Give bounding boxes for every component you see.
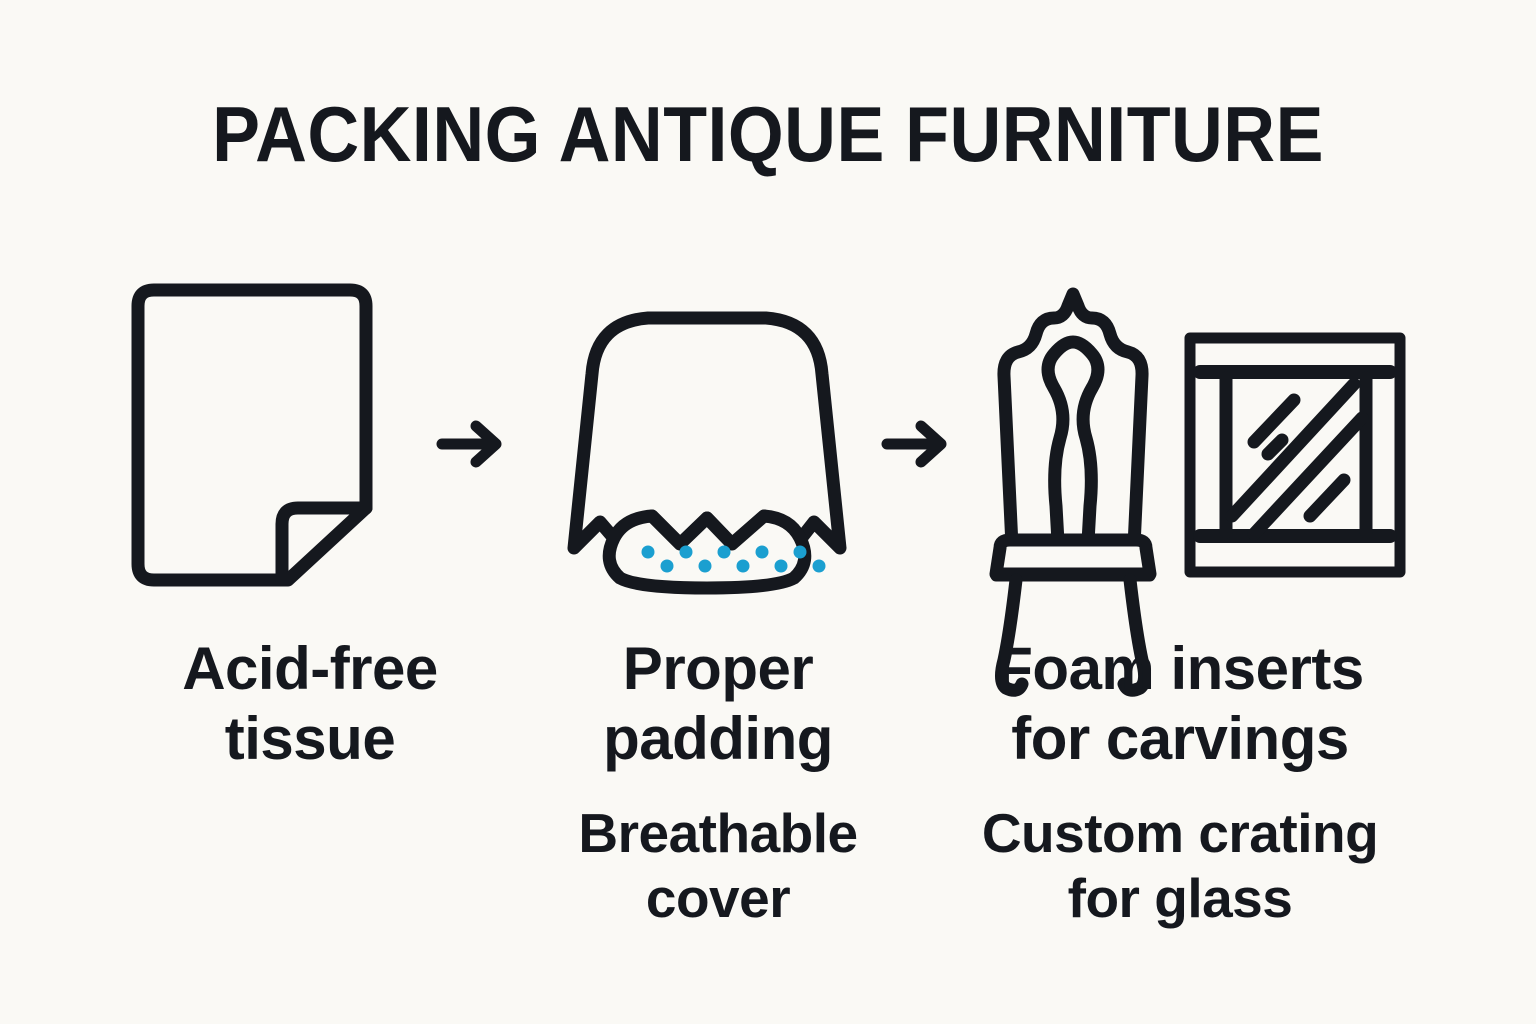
step-3-secondary-label: Custom crating for glass: [900, 801, 1460, 930]
step-3-primary-line-2: for carvings: [900, 704, 1460, 774]
tissue-sheet-icon: [122, 280, 382, 590]
step-2-secondary-line-1: Breathable: [468, 801, 968, 865]
icon-row: [0, 252, 1536, 604]
arrow-right-icon: [881, 417, 953, 471]
step-2-labels: Proper padding Breathable cover: [468, 634, 968, 930]
step-2-secondary-label: Breathable cover: [468, 801, 968, 930]
padded-cover-icon: [552, 300, 862, 592]
step-2-primary-line-1: Proper: [468, 634, 968, 704]
step-3-secondary-line-1: Custom crating: [900, 801, 1460, 865]
step-3-primary-line-1: Foam inserts: [900, 634, 1460, 704]
page-title: PACKING ANTIQUE FURNITURE: [61, 95, 1474, 173]
step-3-labels: Foam inserts for carvings Custom crating…: [900, 634, 1460, 930]
step-2-primary-label: Proper padding: [468, 634, 968, 773]
step-3-primary-label: Foam inserts for carvings: [900, 634, 1460, 773]
antique-chair-icon: [976, 256, 1170, 600]
step-2-secondary-line-2: cover: [468, 866, 968, 930]
infographic-canvas: PACKING ANTIQUE FURNITURE: [0, 0, 1536, 1024]
arrow-right-icon: [436, 417, 508, 471]
wooden-crate-icon: [1182, 330, 1408, 580]
step-2-primary-line-2: padding: [468, 704, 968, 774]
step-3-secondary-line-2: for glass: [900, 866, 1460, 930]
